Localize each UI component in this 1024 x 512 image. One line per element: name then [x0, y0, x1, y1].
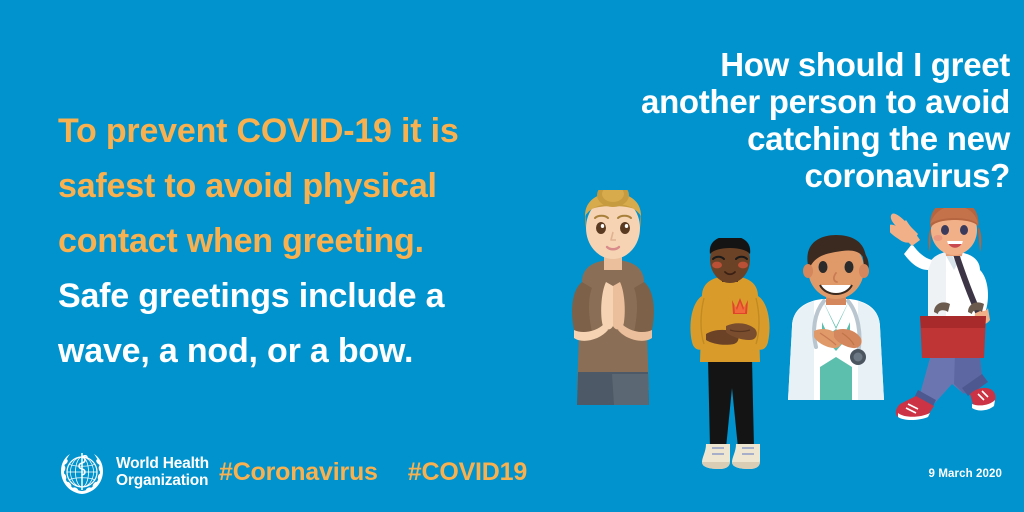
who-wordmark-line-1: World Health	[116, 455, 209, 473]
message-amber-line-2: safest to avoid physical	[58, 159, 528, 214]
headline-line-2: another person to avoid	[590, 83, 1010, 120]
hashtag-covid19: #COVID19	[408, 458, 527, 487]
person-waving	[890, 208, 1012, 433]
headline-line-1: How should I greet	[590, 46, 1010, 83]
main-message: To prevent COVID-19 it is safest to avoi…	[58, 104, 528, 379]
hashtag-group: #Coronavirus #COVID19	[219, 458, 527, 487]
date-stamp: 9 March 2020	[929, 468, 1002, 480]
headline-line-3: catching the new	[590, 120, 1010, 157]
message-white-line-1: Safe greetings include a	[58, 269, 528, 324]
hashtag-coronavirus: #Coronavirus	[219, 458, 378, 487]
message-amber-line-3: contact when greeting.	[58, 214, 528, 269]
health-worker-hand-on-heart	[776, 235, 896, 400]
person-namaste-greeting	[548, 190, 678, 405]
who-wordmark-line-2: Organization	[116, 472, 209, 490]
person-hand-on-heart	[682, 238, 778, 480]
who-wordmark: World Health Organization	[116, 455, 209, 490]
who-emblem-icon	[57, 447, 107, 497]
message-amber-line-1: To prevent COVID-19 it is	[58, 104, 528, 159]
headline: How should I greet another person to avo…	[590, 46, 1010, 194]
headline-line-4: coronavirus?	[590, 157, 1010, 194]
message-white-line-2: wave, a nod, or a bow.	[58, 324, 528, 379]
who-logo: World Health Organization	[57, 447, 209, 497]
who-infographic-poster: How should I greet another person to avo…	[0, 0, 1024, 512]
illustration-group	[548, 190, 1024, 440]
